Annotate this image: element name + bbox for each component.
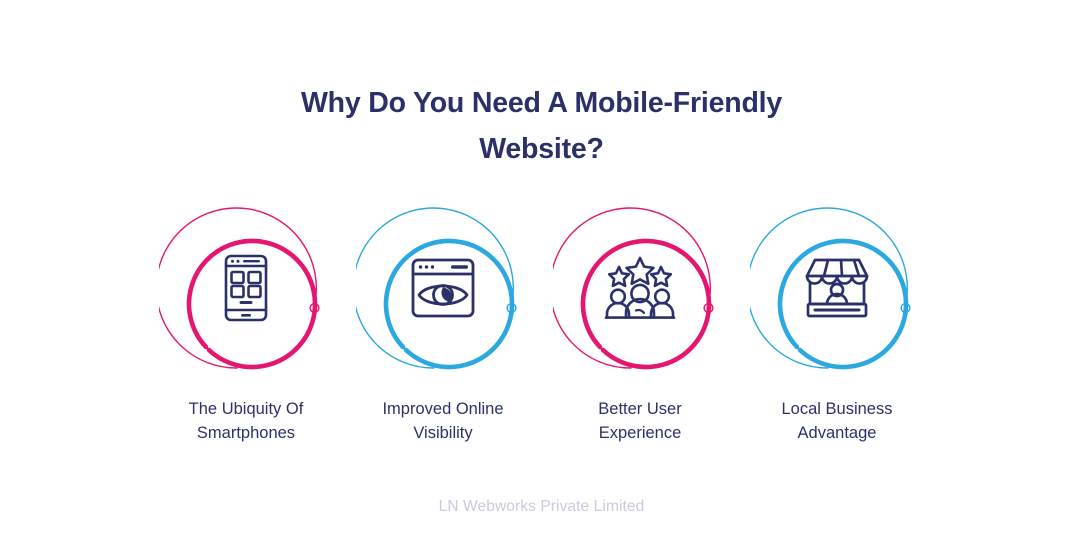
benefit-label-line-2: Experience xyxy=(599,424,682,442)
benefit-card-label: Local Business Advantage xyxy=(747,397,927,445)
infographic-page: Why Do You Need A Mobile-Friendly Websit… xyxy=(0,0,1083,543)
icon-ring-online-visibility xyxy=(356,200,531,375)
benefit-label-line-2: Advantage xyxy=(798,424,877,442)
footer-company-name: LN Webworks Private Limited xyxy=(0,498,1083,516)
icon-ring-user-experience xyxy=(553,200,728,375)
page-title-line-1: Why Do You Need A Mobile-Friendly xyxy=(301,87,782,119)
icon-holder-storefront xyxy=(750,200,925,375)
benefit-card-label: Better User Experience xyxy=(550,397,730,445)
icon-holder-people-stars xyxy=(553,200,728,375)
benefit-card-list: The Ubiquity Of Smartphones xyxy=(148,200,936,445)
benefit-card-user-experience[interactable]: Better User Experience xyxy=(542,200,739,445)
people-stars-icon xyxy=(604,255,676,321)
benefit-label-line-1: Improved Online xyxy=(382,400,503,418)
icon-ring-smartphones xyxy=(159,200,334,375)
benefit-card-smartphones[interactable]: The Ubiquity Of Smartphones xyxy=(148,200,345,445)
storefront-icon xyxy=(802,255,872,321)
benefit-label-line-1: Better User xyxy=(598,400,681,418)
benefit-card-local-business[interactable]: Local Business Advantage xyxy=(739,200,936,445)
icon-holder-smartphone xyxy=(159,200,334,375)
benefit-card-label: The Ubiquity Of Smartphones xyxy=(156,397,336,445)
icon-holder-browser-eye xyxy=(356,200,531,375)
page-title-line-2: Website? xyxy=(479,133,604,165)
benefit-label-line-1: Local Business xyxy=(782,400,893,418)
icon-ring-local-business xyxy=(750,200,925,375)
benefit-card-label: Improved Online Visibility xyxy=(353,397,533,445)
benefit-label-line-2: Visibility xyxy=(413,424,472,442)
browser-eye-icon xyxy=(410,257,476,319)
benefit-label-line-1: The Ubiquity Of xyxy=(189,400,304,418)
smartphone-icon xyxy=(223,253,269,323)
benefit-label-line-2: Smartphones xyxy=(197,424,295,442)
benefit-card-online-visibility[interactable]: Improved Online Visibility xyxy=(345,200,542,445)
page-title: Why Do You Need A Mobile-Friendly Websit… xyxy=(262,0,822,172)
